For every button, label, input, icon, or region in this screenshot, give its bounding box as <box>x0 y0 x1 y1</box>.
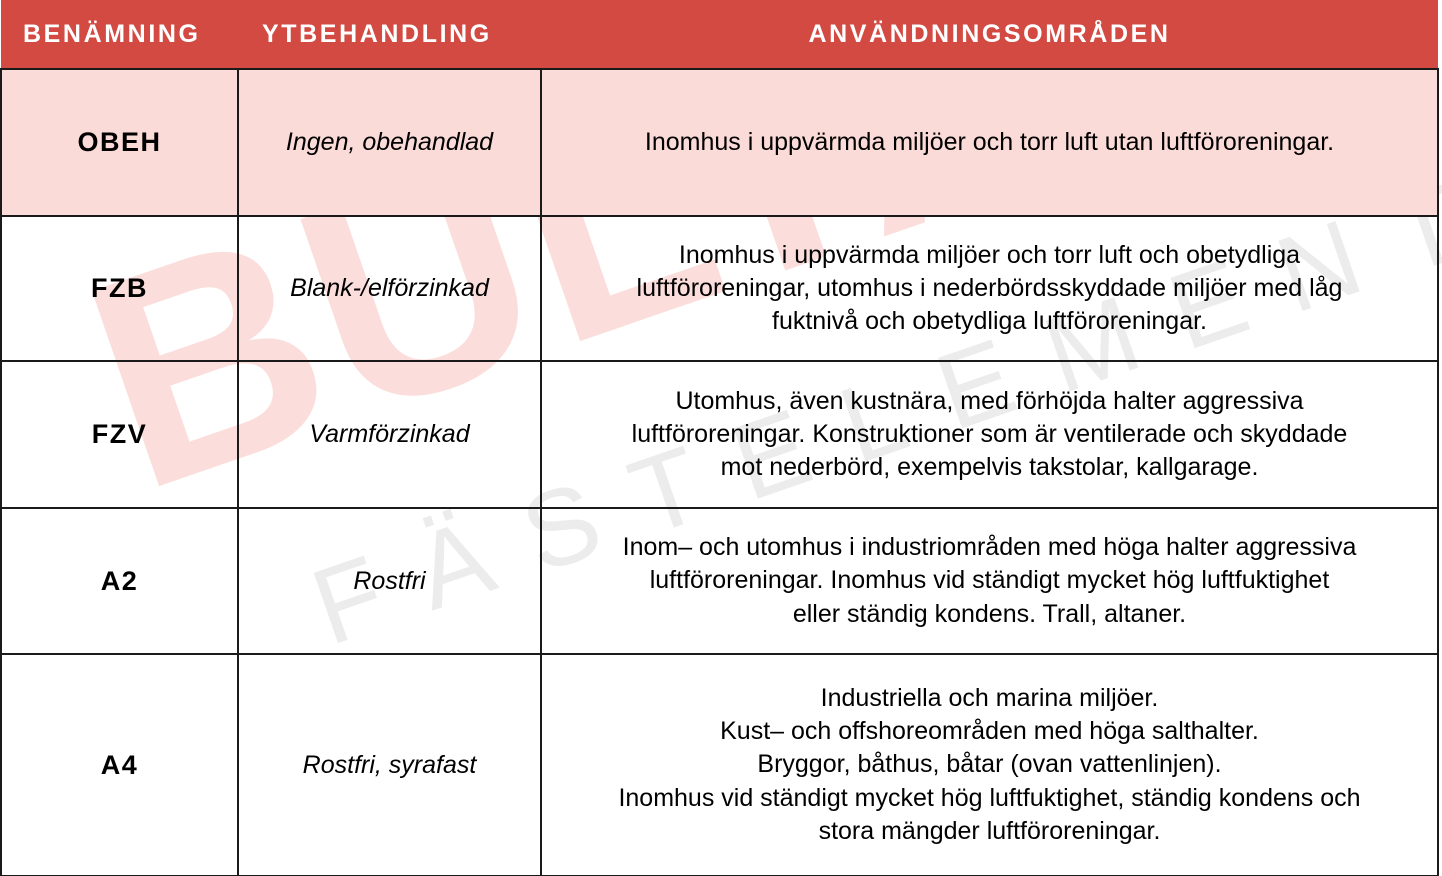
usage-line: fuktnivå och obetydliga luftföroreningar… <box>556 305 1423 338</box>
usage-line: Industriella och marina miljöer. <box>556 682 1423 715</box>
cell-ytbehandling: Rostfri, syrafast <box>238 654 541 876</box>
cell-anvandningsomraden: Inomhus i uppvärmda miljöer och torr luf… <box>541 69 1438 216</box>
usage-line: Inomhus i uppvärmda miljöer och torr luf… <box>556 126 1423 159</box>
table-row: OBEHIngen, obehandladInomhus i uppvärmda… <box>1 69 1438 216</box>
cell-benamning: OBEH <box>1 69 238 216</box>
cell-benamning: A4 <box>1 654 238 876</box>
usage-line: Inom– och utomhus i industriområden med … <box>556 531 1423 564</box>
cell-anvandningsomraden: Inom– och utomhus i industriområden med … <box>541 508 1438 654</box>
table-body: OBEHIngen, obehandladInomhus i uppvärmda… <box>1 69 1438 876</box>
table-row: FZVVarmförzinkadUtomhus, även kustnära, … <box>1 361 1438 508</box>
table-row: FZBBlank-/elförzinkadInomhus i uppvärmda… <box>1 216 1438 361</box>
usage-line: Kust– och offshoreområden med höga salth… <box>556 715 1423 748</box>
usage-line: Utomhus, även kustnära, med förhöjda hal… <box>556 385 1423 418</box>
table-row: A4Rostfri, syrafastIndustriella och mari… <box>1 654 1438 876</box>
surface-treatment-table-wrapper: BENÄMNING YTBEHANDLING ANVÄNDNINGSOMRÅDE… <box>0 0 1442 876</box>
cell-anvandningsomraden: Industriella och marina miljöer.Kust– oc… <box>541 654 1438 876</box>
usage-line: luftföroreningar. Inomhus vid ständigt m… <box>556 564 1423 597</box>
cell-anvandningsomraden: Inomhus i uppvärmda miljöer och torr luf… <box>541 216 1438 361</box>
table-header: BENÄMNING YTBEHANDLING ANVÄNDNINGSOMRÅDE… <box>1 0 1438 69</box>
usage-line: luftföroreningar, utomhus i nederbördssk… <box>556 272 1423 305</box>
usage-line: Inomhus vid ständigt mycket hög luftfukt… <box>556 782 1423 815</box>
table-row: A2RostfriInom– och utomhus i industriomr… <box>1 508 1438 654</box>
cell-ytbehandling: Varmförzinkad <box>238 361 541 508</box>
cell-benamning: FZV <box>1 361 238 508</box>
cell-ytbehandling: Rostfri <box>238 508 541 654</box>
usage-line: eller ständig kondens. Trall, altaner. <box>556 598 1423 631</box>
usage-line: Inomhus i uppvärmda miljöer och torr luf… <box>556 239 1423 272</box>
cell-ytbehandling: Ingen, obehandlad <box>238 69 541 216</box>
cell-benamning: A2 <box>1 508 238 654</box>
cell-anvandningsomraden: Utomhus, även kustnära, med förhöjda hal… <box>541 361 1438 508</box>
table-page: BULTAB FÄSTELEMENT BENÄMNING YTBEHANDLIN… <box>0 0 1442 876</box>
usage-line: Bryggor, båthus, båtar (ovan vattenlinje… <box>556 748 1423 781</box>
cell-benamning: FZB <box>1 216 238 361</box>
cell-ytbehandling: Blank-/elförzinkad <box>238 216 541 361</box>
column-header-benamning: BENÄMNING <box>1 0 238 69</box>
column-header-ytbehandling: YTBEHANDLING <box>238 0 541 69</box>
column-header-anvandningsomraden: ANVÄNDNINGSOMRÅDEN <box>541 0 1438 69</box>
usage-line: stora mängder luftföroreningar. <box>556 815 1423 848</box>
usage-line: mot nederbörd, exempelvis takstolar, kal… <box>556 451 1423 484</box>
surface-treatment-table: BENÄMNING YTBEHANDLING ANVÄNDNINGSOMRÅDE… <box>0 0 1439 876</box>
usage-line: luftföroreningar. Konstruktioner som är … <box>556 418 1423 451</box>
header-row: BENÄMNING YTBEHANDLING ANVÄNDNINGSOMRÅDE… <box>1 0 1438 69</box>
